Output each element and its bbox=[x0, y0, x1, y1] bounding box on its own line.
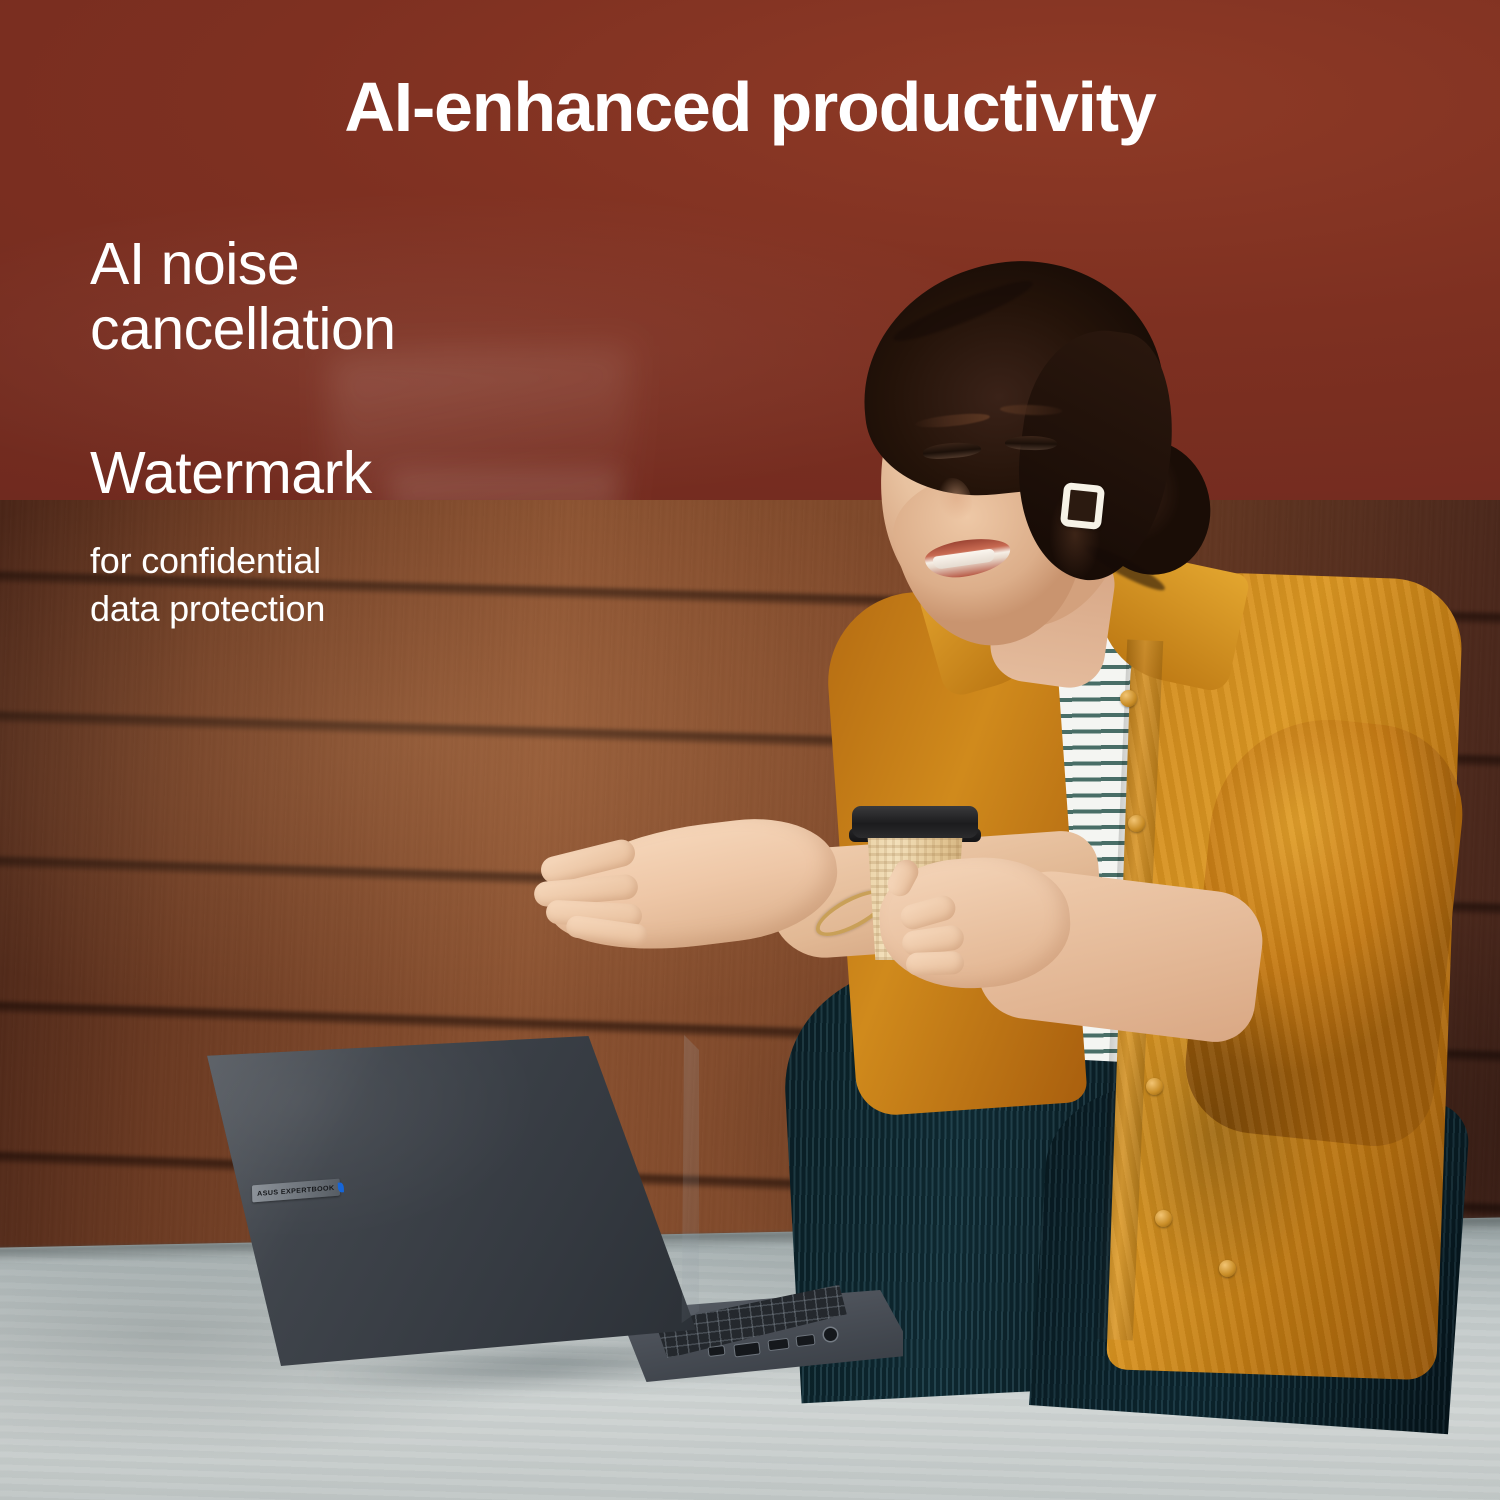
page-title: AI-enhanced productivity bbox=[0, 72, 1500, 142]
feature-watermark-headline: Watermark bbox=[90, 441, 372, 506]
asus-logo-mark-icon bbox=[337, 1182, 343, 1192]
power-jack bbox=[824, 1328, 837, 1341]
feature-headline-line1: AI noise bbox=[90, 232, 396, 297]
feature-headline-line2: cancellation bbox=[90, 297, 396, 362]
feature-sub-line1: for confidential bbox=[90, 537, 325, 585]
feature-sub-line2: data protection bbox=[90, 585, 325, 633]
laptop-lid bbox=[196, 1036, 696, 1366]
badge-label: ASUS EXPERTBOOK bbox=[257, 1183, 335, 1198]
feature-headline: Watermark bbox=[90, 441, 372, 506]
feature-watermark-subtext: for confidential data protection bbox=[90, 537, 325, 632]
photo-scene: ASUS EXPERTBOOK bbox=[0, 0, 1500, 1500]
feature-ai-noise-cancellation: AI noise cancellation bbox=[90, 232, 396, 362]
laptop: ASUS EXPERTBOOK bbox=[0, 0, 1500, 1500]
promo-poster: ASUS EXPERTBOOK AI-enhanced productivity… bbox=[0, 0, 1500, 1500]
